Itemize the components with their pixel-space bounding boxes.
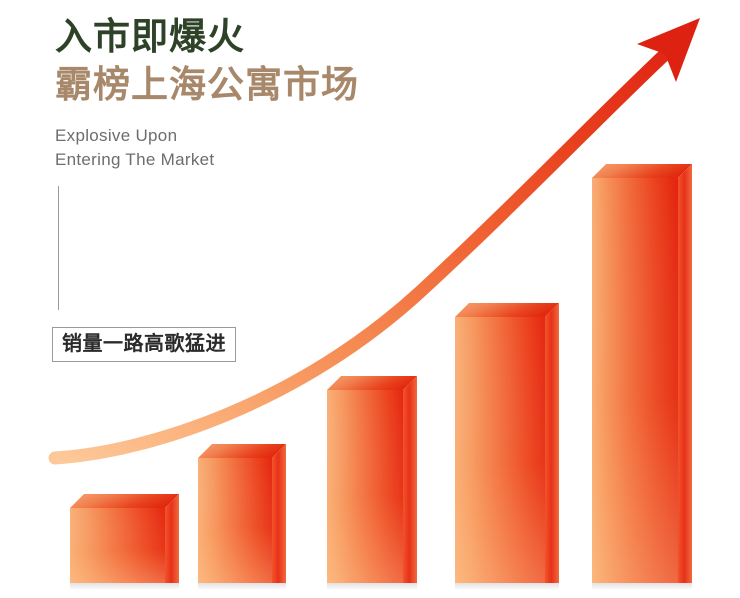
vertical-divider (58, 186, 59, 310)
bar-shadows (70, 583, 692, 590)
bar-5 (592, 164, 692, 583)
headline-english: Explosive Upon Entering The Market (55, 124, 359, 172)
bar-2 (198, 444, 286, 583)
sales-callout-badge: 销量一路高歌猛进 (52, 327, 236, 362)
bar-3 (327, 376, 417, 583)
headline-block: 入市即爆火 霸榜上海公寓市场 Explosive Upon Entering T… (55, 14, 359, 172)
sales-callout-label: 销量一路高歌猛进 (62, 333, 226, 355)
headline-secondary: 霸榜上海公寓市场 (55, 62, 359, 108)
headline-english-line-1: Explosive Upon (55, 124, 359, 148)
headline-english-line-2: Entering The Market (55, 148, 359, 172)
bar-4 (455, 303, 559, 583)
bar-1 (70, 494, 179, 583)
marketing-poster: 入市即爆火 霸榜上海公寓市场 Explosive Upon Entering T… (0, 0, 740, 598)
headline-primary: 入市即爆火 (55, 14, 359, 60)
